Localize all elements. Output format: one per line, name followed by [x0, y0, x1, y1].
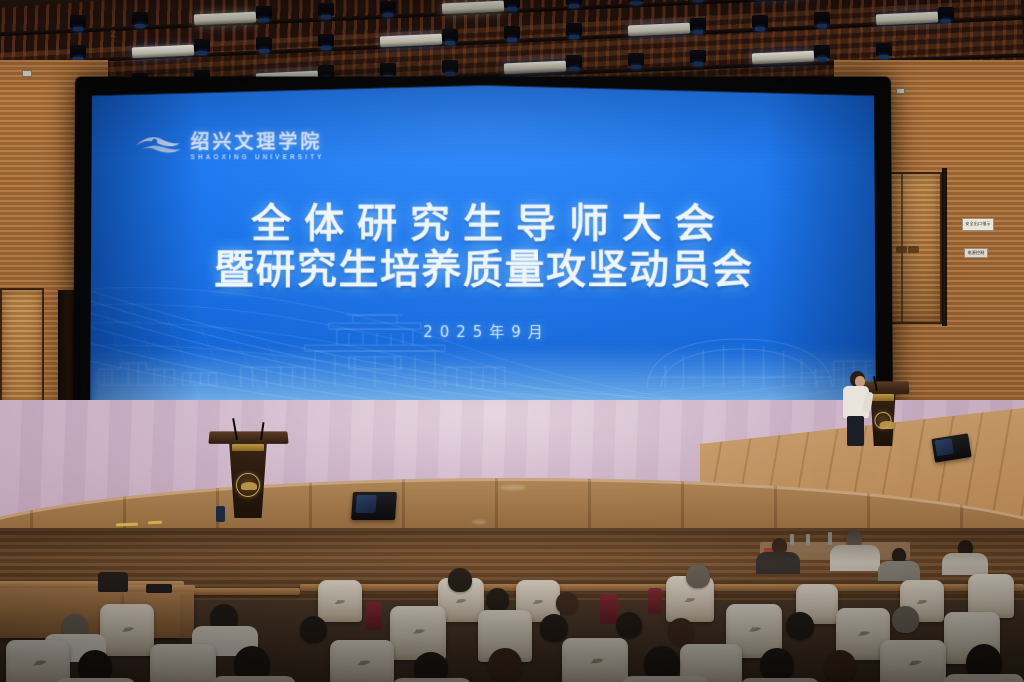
audience-head: [892, 606, 919, 633]
screen-date: 2025年9月: [91, 321, 876, 342]
university-crest-icon: [916, 594, 929, 603]
university-crest-icon: [356, 656, 369, 665]
audience-head: [488, 648, 522, 682]
stage-spotlight: [132, 12, 148, 25]
audience-head: [686, 564, 710, 588]
monitor-grille: [355, 495, 376, 513]
audience-head: [760, 648, 794, 682]
mountain-wave-logo-mark: [134, 135, 182, 161]
water-bottle: [806, 534, 810, 545]
podium-crest-emblem: [236, 473, 260, 497]
stage-spotlight: [380, 63, 396, 76]
door-handle[interactable]: [908, 246, 919, 253]
audience-head: [556, 592, 578, 614]
audience-head: [824, 650, 856, 682]
stage-floor-monitor: [351, 492, 397, 520]
stage-spotlight: [566, 55, 582, 68]
left-wall-plate: [22, 70, 32, 77]
stage-spotlight: [876, 43, 892, 56]
stage-spotlight: [814, 12, 830, 25]
stage-scuff: [472, 520, 486, 524]
right-wall-plate: [896, 88, 905, 94]
stage-scuff: [500, 485, 526, 490]
audience-seat[interactable]: [880, 640, 946, 682]
audience-shoulders: [392, 678, 472, 682]
water-bottle: [790, 534, 794, 545]
stage-spotlight: [256, 37, 272, 50]
screen-university-logo: 绍兴文理学院 SHAOXING UNIVERSITY: [134, 133, 325, 161]
stage-spotlight: [442, 60, 458, 73]
stage-spotlight: [70, 15, 86, 28]
audience-head: [300, 616, 327, 643]
stage-spotlight: [504, 26, 520, 39]
stage-spotlight: [442, 29, 458, 42]
podium-nameplate: [232, 444, 265, 451]
monitor-grille: [935, 438, 954, 456]
led-screen-frame: 绍兴文理学院 SHAOXING UNIVERSITY 全体研究生导师大会 暨研究…: [73, 77, 893, 447]
podium-nameplate: [872, 394, 894, 401]
university-crest-icon: [684, 592, 697, 601]
stage-spotlight: [628, 0, 644, 2]
university-crest-icon: [857, 626, 870, 635]
audience-head: [486, 588, 509, 612]
audience-area: [0, 528, 1024, 682]
stage-spotlight: [690, 50, 706, 63]
stage-spotlight: [504, 0, 520, 8]
audience-seat[interactable]: [562, 638, 628, 682]
exit-sign: 安全出口指示: [962, 218, 994, 231]
door-handle[interactable]: [896, 246, 907, 253]
audience-head: [540, 614, 568, 642]
stage-spotlight: [318, 3, 334, 16]
audience-shoulders: [878, 561, 920, 581]
speaker-legs: [847, 416, 864, 446]
audience-shoulders: [944, 674, 1024, 682]
university-crest-icon: [121, 622, 134, 631]
audience-shoulders: [56, 678, 136, 682]
university-crest-icon: [334, 594, 347, 603]
water-bottle: [828, 532, 832, 545]
logo-chinese-name: 绍兴文理学院: [190, 133, 324, 152]
stage-spotlight: [194, 39, 210, 52]
university-crest-icon: [589, 654, 602, 663]
right-door-frame-shadow: [942, 168, 947, 326]
seat-cushion: [648, 588, 662, 614]
university-crest-icon: [532, 594, 545, 603]
stage-spotlight: [814, 45, 830, 58]
audience-shoulders: [740, 678, 820, 682]
stage-spotlight: [628, 53, 644, 66]
stage-spotlight: [752, 15, 768, 28]
ceiling-marker-number: 2: [110, 28, 116, 40]
stage-spotlight: [318, 34, 334, 47]
stage-spotlight: [256, 6, 272, 19]
center-podium: [214, 440, 282, 518]
university-crest-icon: [907, 656, 920, 665]
screen-title-line2: 暨研究生培养质量攻坚动员会: [91, 247, 875, 293]
stage-spotlight: [938, 7, 954, 20]
audience-seat[interactable]: [100, 604, 154, 656]
audience-head: [616, 612, 642, 638]
podium-side-device: [216, 506, 225, 522]
desk-device: [146, 584, 172, 593]
university-crest-icon: [412, 624, 425, 633]
screen-title-line1: 全体研究生导师大会: [91, 203, 875, 245]
audience-shoulders: [830, 545, 880, 571]
audience-seat[interactable]: [150, 644, 216, 682]
stage-spotlight: [566, 23, 582, 36]
stage-spotlight: [70, 45, 86, 58]
audience-head: [448, 568, 472, 592]
audience-shoulders: [212, 676, 296, 682]
seat-cushion: [366, 602, 382, 630]
screen-title-block: 全体研究生导师大会 暨研究生培养质量攻坚动员会: [91, 203, 875, 294]
audience-shoulders: [622, 676, 708, 682]
seat-cushion: [600, 594, 618, 624]
podium-crest-emblem: [875, 412, 892, 429]
stage-spotlight: [690, 18, 706, 31]
power-panel-sign: 电源控制: [964, 248, 988, 258]
audience-seat[interactable]: [390, 606, 446, 660]
ceiling-strip-light: [442, 0, 504, 14]
led-screen: 绍兴文理学院 SHAOXING UNIVERSITY 全体研究生导师大会 暨研究…: [90, 86, 876, 437]
audience-head: [786, 612, 814, 640]
audience-head: [668, 618, 694, 644]
audience-seat[interactable]: [330, 640, 394, 682]
audience-shoulders: [942, 553, 988, 575]
audience-seat[interactable]: [318, 580, 362, 622]
university-crest-icon: [455, 593, 468, 602]
stage-spotlight: [566, 0, 582, 5]
audience-shoulders: [756, 552, 800, 574]
stage-spotlight: [380, 1, 396, 14]
logo-english-name: SHAOXING UNIVERSITY: [190, 155, 324, 161]
audience-seat[interactable]: [6, 640, 70, 682]
auditorium-photo: 2 1 安全出口指示 电源控制: [0, 0, 1024, 682]
desk-bag: [98, 572, 128, 592]
stage-tape-mark: [148, 521, 162, 524]
university-crest-icon: [32, 656, 45, 665]
university-crest-icon: [748, 622, 761, 631]
